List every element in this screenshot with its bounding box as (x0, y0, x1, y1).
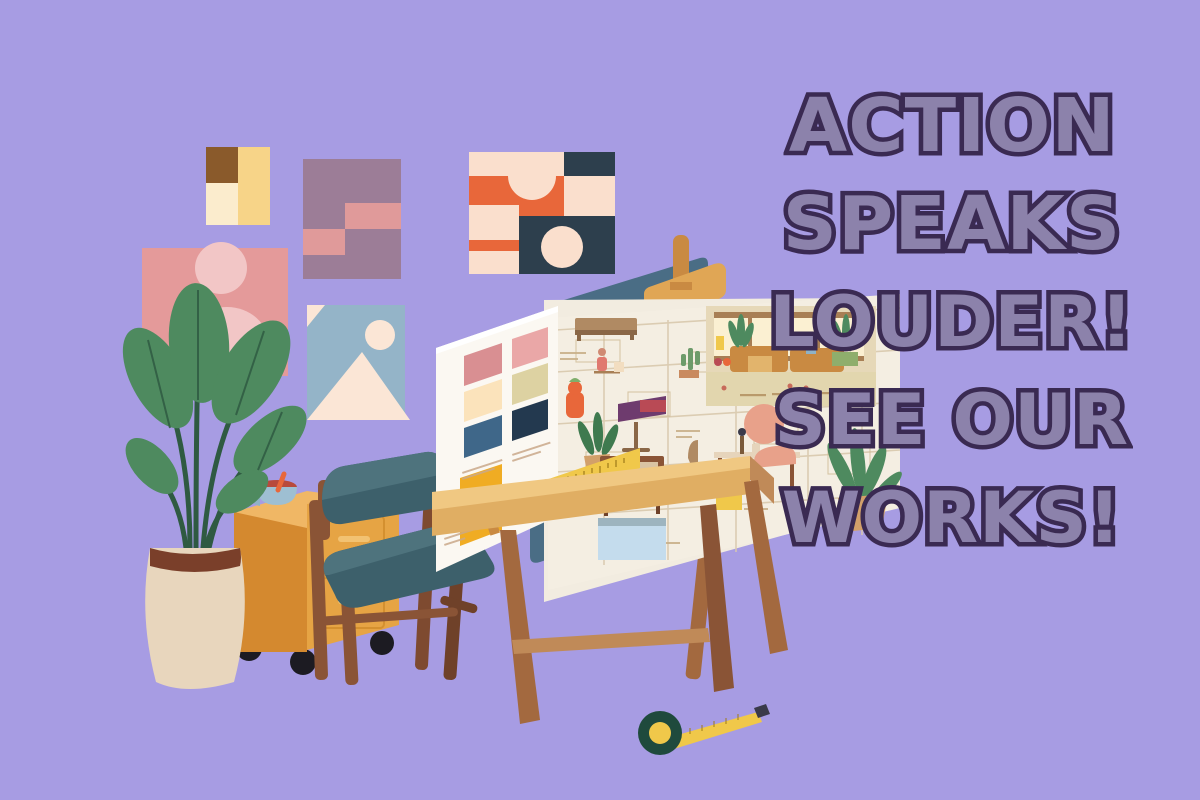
geometric-frame-orange-navy (469, 152, 615, 274)
stair-frame-mauve-pink (303, 159, 401, 279)
poster-canvas: ACTION SPEAKS LOUDER! SEE OUR WORKS! (0, 0, 1200, 800)
swatch-frame-brown-yellow (206, 147, 270, 225)
interior-design-studio-illustration (0, 0, 1200, 800)
plan-interior-render (706, 306, 876, 406)
landscape-frame-blue (307, 305, 410, 420)
